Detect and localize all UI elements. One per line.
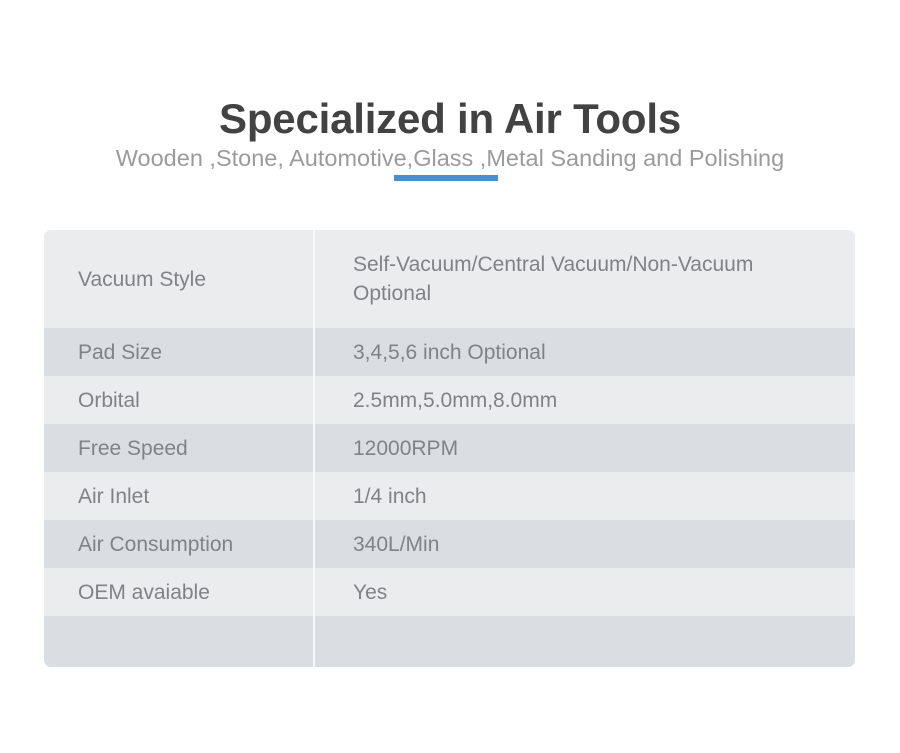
spec-label: Air Consumption <box>44 520 313 568</box>
spec-value-text: 2.5mm,5.0mm,8.0mm <box>353 386 557 415</box>
spec-value: 340L/Min <box>315 520 855 568</box>
page-subtitle: Wooden ,Stone, Automotive,Glass ,Metal S… <box>0 144 900 172</box>
spec-value: Yes <box>315 568 855 616</box>
product-spec-page: Specialized in Air Tools Wooden ,Stone, … <box>0 0 900 753</box>
spec-label: Orbital <box>44 376 313 424</box>
spec-value-text: 340L/Min <box>353 530 439 559</box>
spec-value-text: 1/4 inch <box>353 482 427 511</box>
table-row: Pad Size 3,4,5,6 inch Optional <box>44 328 855 376</box>
spec-value: 12000RPM <box>315 424 855 472</box>
spec-label: Vacuum Style <box>44 230 313 328</box>
spec-label <box>44 616 313 667</box>
page-title: Specialized in Air Tools <box>0 96 900 142</box>
spec-value-text: Self-Vacuum/Central Vacuum/Non-Vacuum Op… <box>353 250 799 308</box>
spec-value: 1/4 inch <box>315 472 855 520</box>
table-row-empty <box>44 616 855 667</box>
table-row: OEM avaiable Yes <box>44 568 855 616</box>
spec-value <box>315 616 855 667</box>
spec-label: OEM avaiable <box>44 568 313 616</box>
table-row: Orbital 2.5mm,5.0mm,8.0mm <box>44 376 855 424</box>
spec-value-text: 3,4,5,6 inch Optional <box>353 338 546 367</box>
spec-value-text: Yes <box>353 578 387 607</box>
spec-label: Free Speed <box>44 424 313 472</box>
table-row: Free Speed 12000RPM <box>44 424 855 472</box>
table-row: Vacuum Style Self-Vacuum/Central Vacuum/… <box>44 230 855 328</box>
specifications-table: Vacuum Style Self-Vacuum/Central Vacuum/… <box>44 230 855 667</box>
spec-value-text: 12000RPM <box>353 434 458 463</box>
table-row: Air Consumption 340L/Min <box>44 520 855 568</box>
spec-label: Pad Size <box>44 328 313 376</box>
spec-label: Air Inlet <box>44 472 313 520</box>
spec-value: 2.5mm,5.0mm,8.0mm <box>315 376 855 424</box>
accent-underline-bar <box>394 175 498 181</box>
spec-value: Self-Vacuum/Central Vacuum/Non-Vacuum Op… <box>315 230 855 328</box>
table-row: Air Inlet 1/4 inch <box>44 472 855 520</box>
spec-value: 3,4,5,6 inch Optional <box>315 328 855 376</box>
